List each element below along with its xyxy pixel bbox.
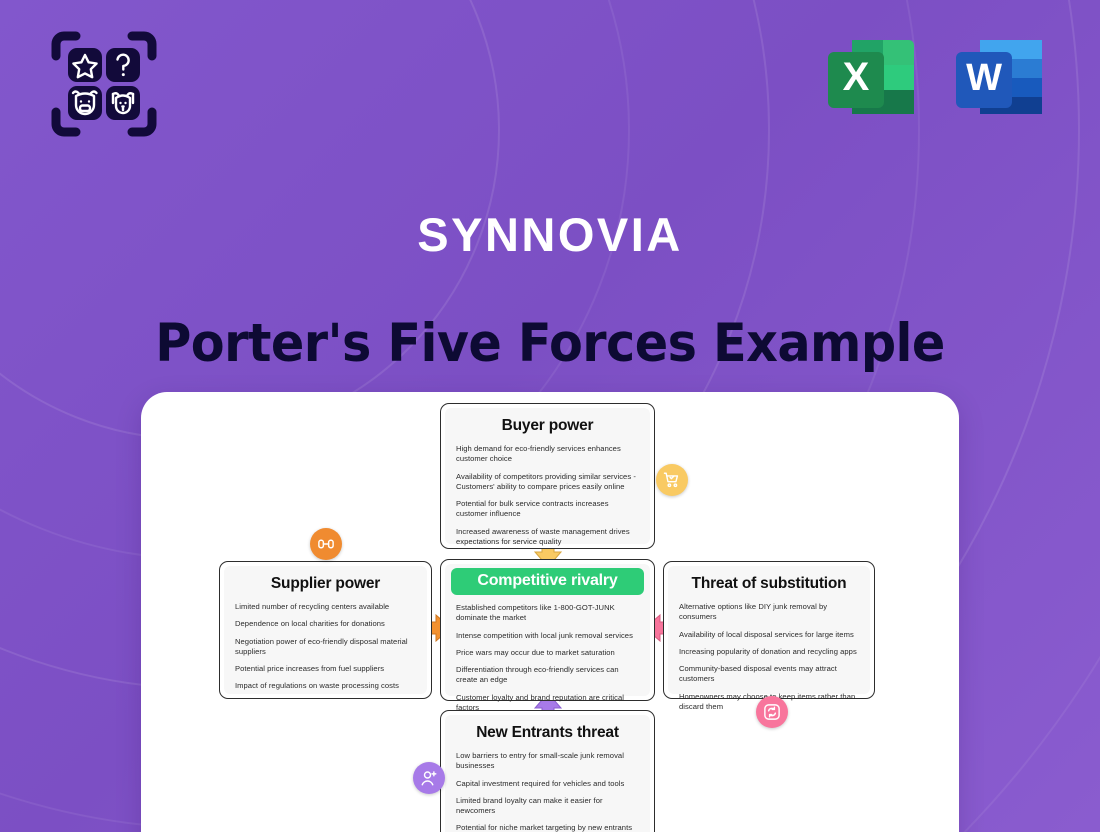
force-item: Alternative options like DIY junk remova… [679,602,859,623]
question-mark-dot [122,73,125,76]
porters-five-forces-diagram: Buyer power High demand for eco-friendly… [141,392,959,832]
force-list-supplier: Limited number of recycling centers avai… [235,602,416,692]
force-title-buyer: Buyer power [456,417,639,435]
excel-icon[interactable]: X [822,26,920,124]
word-icon[interactable]: W [950,26,1048,124]
force-item: Intense competition with local junk remo… [456,631,639,641]
brand-name: SYNNOVIA [0,207,1100,262]
force-box-new-entrants[interactable]: New Entrants threat Low barriers to entr… [440,710,655,832]
force-item: Impact of regulations on waste processin… [235,681,416,691]
synnovia-logo[interactable] [46,26,162,142]
force-title-new-entrants: New Entrants threat [456,724,639,742]
force-title-substitution: Threat of substitution [679,575,859,593]
force-item: Potential for niche market targeting by … [456,823,639,832]
svg-text:W: W [966,57,1002,99]
force-title-rivalry: Competitive rivalry [451,572,644,590]
force-item: Potential price increases from fuel supp… [235,664,416,674]
force-item: High demand for eco-friendly services en… [456,444,639,465]
force-item: Limited brand loyalty can make it easier… [456,796,639,817]
swap-refresh-icon[interactable] [756,696,788,728]
force-box-rivalry[interactable]: Competitive rivalry Established competit… [440,559,655,701]
page-root: X W SYNNOVIA Porter's Five Forces Exampl… [0,0,1100,832]
force-item: Availability of competitors providing si… [456,472,639,493]
page-title: Porter's Five Forces Example [39,313,1062,374]
force-item: Price wars may occur due to market satur… [456,648,639,658]
force-item: Differentiation through eco-friendly ser… [456,665,639,686]
force-item: Availability of local disposal services … [679,630,859,640]
add-user-icon[interactable] [413,762,445,794]
force-box-substitution[interactable]: Threat of substitution Alternative optio… [663,561,875,699]
force-item: Potential for bulk service contracts inc… [456,499,639,520]
handshake-icon[interactable] [310,528,342,560]
force-item: Established competitors like 1-800-GOT-J… [456,603,639,624]
shopping-cart-icon[interactable] [656,464,688,496]
force-item: Negotiation power of eco-friendly dispos… [235,637,416,658]
force-item: Community-based disposal events may attr… [679,664,859,685]
app-icons: X W [822,26,1048,124]
diagram-card: Buyer power High demand for eco-friendly… [141,392,959,832]
svg-text:X: X [843,55,870,99]
force-item: Limited number of recycling centers avai… [235,602,416,612]
force-item: Increased awareness of waste management … [456,527,639,548]
force-item: Capital investment required for vehicles… [456,779,639,789]
force-list-rivalry: Established competitors like 1-800-GOT-J… [456,603,639,713]
force-item: Dependence on local charities for donati… [235,619,416,629]
force-list-new-entrants: Low barriers to entry for small-scale ju… [456,751,639,832]
force-box-buyer[interactable]: Buyer power High demand for eco-friendly… [440,403,655,549]
force-item: Increasing popularity of donation and re… [679,647,859,657]
force-item: Low barriers to entry for small-scale ju… [456,751,639,772]
force-box-supplier[interactable]: Supplier power Limited number of recycli… [219,561,432,699]
force-list-buyer: High demand for eco-friendly services en… [456,444,639,547]
force-title-supplier: Supplier power [235,575,416,593]
force-header-rivalry: Competitive rivalry [451,568,644,595]
